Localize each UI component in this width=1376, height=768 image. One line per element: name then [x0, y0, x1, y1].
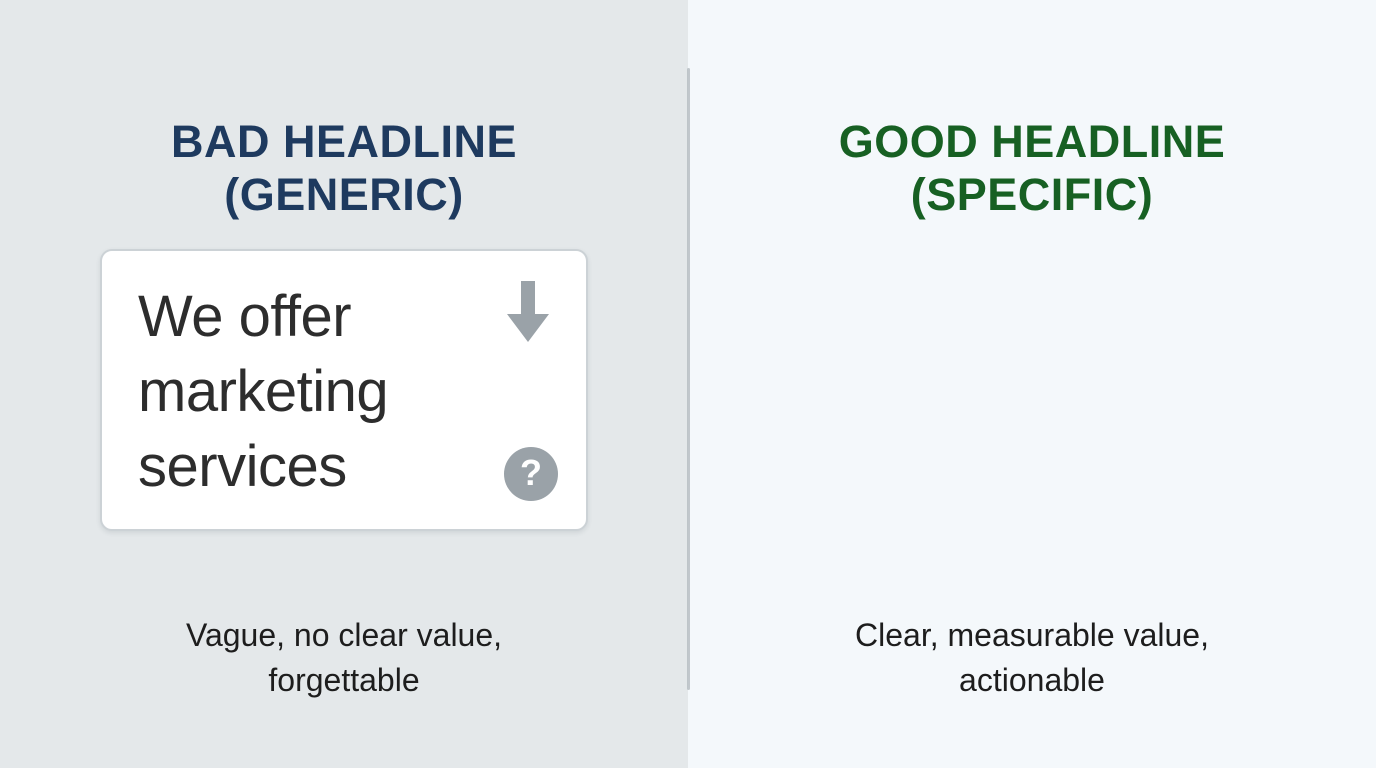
good-caption-line-1: Clear, measurable value,: [688, 613, 1376, 658]
bad-heading: BAD HEADLINE (GENERIC): [0, 115, 688, 221]
bad-heading-line-2: (GENERIC): [0, 168, 688, 221]
bad-heading-line-1: BAD HEADLINE: [0, 115, 688, 168]
bad-example-panel: BAD HEADLINE (GENERIC) We offer marketin…: [0, 0, 688, 768]
bad-caption-line-2: forgettable: [0, 658, 688, 703]
question-mark-glyph: ?: [520, 455, 542, 491]
good-heading: GOOD HEADLINE (SPECIFIC): [688, 115, 1376, 221]
bad-headline-text: We offer marketing services: [138, 279, 388, 504]
bad-headline-card: We offer marketing services ?: [100, 249, 588, 531]
arrow-down-icon: [498, 279, 558, 345]
bad-caption: Vague, no clear value, forgettable: [0, 613, 688, 703]
panel-divider: [687, 68, 690, 690]
good-heading-line-1: GOOD HEADLINE: [688, 115, 1376, 168]
good-caption-line-2: actionable: [688, 658, 1376, 703]
good-heading-line-2: (SPECIFIC): [688, 168, 1376, 221]
good-caption: Clear, measurable value, actionable: [688, 613, 1376, 703]
question-mark-icon: ?: [504, 447, 558, 501]
good-example-panel: GOOD HEADLINE (SPECIFIC) Increase revenu…: [688, 0, 1376, 768]
comparison-stage: BAD HEADLINE (GENERIC) We offer marketin…: [0, 0, 1376, 768]
bad-caption-line-1: Vague, no clear value,: [0, 613, 688, 658]
